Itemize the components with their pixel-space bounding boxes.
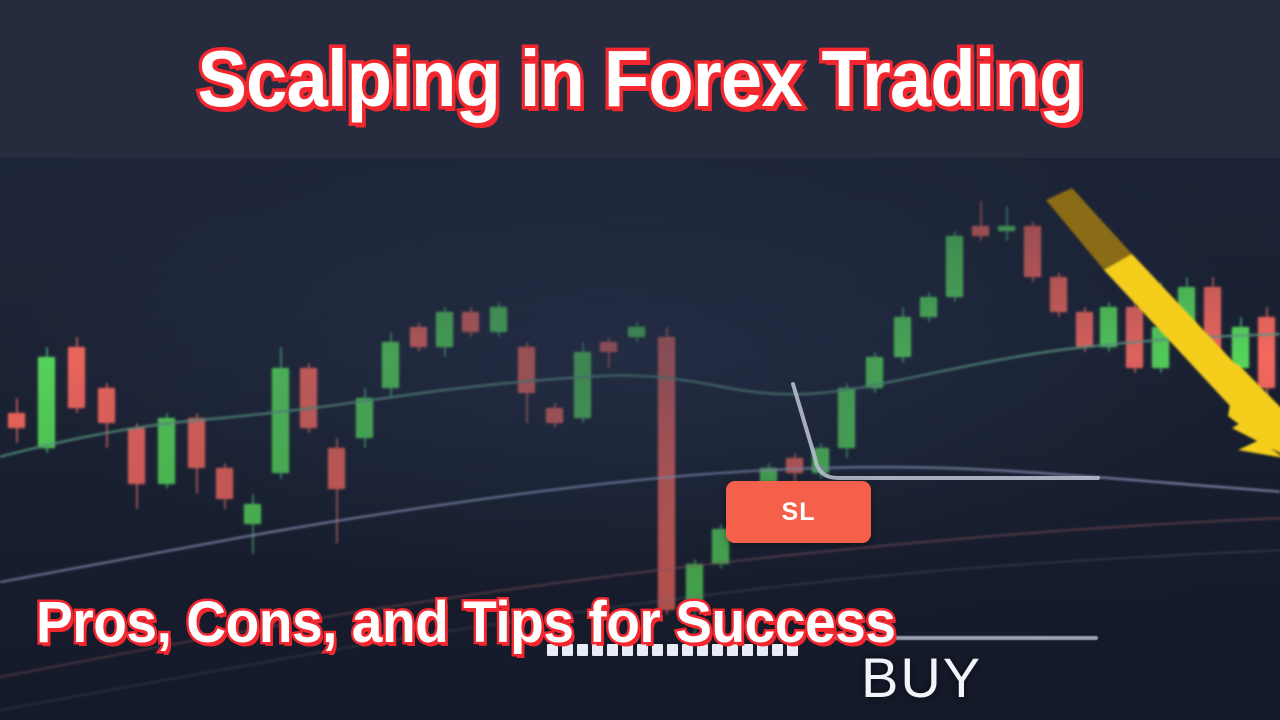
- subtitle-band: Pros, Cons, and Tips for Success: [0, 578, 1280, 668]
- stop-loss-label: SL: [782, 498, 816, 527]
- sl-connector-path: [793, 384, 1098, 478]
- stop-loss-badge[interactable]: SL: [726, 481, 871, 543]
- page-title: Scalping in Forex Trading: [197, 39, 1083, 119]
- title-band: Scalping in Forex Trading: [0, 0, 1280, 158]
- page-subtitle: Pros, Cons, and Tips for Success: [36, 594, 896, 652]
- thumbnail-canvas: SL BUY Scalping in Forex Trading Pros, C…: [0, 0, 1280, 720]
